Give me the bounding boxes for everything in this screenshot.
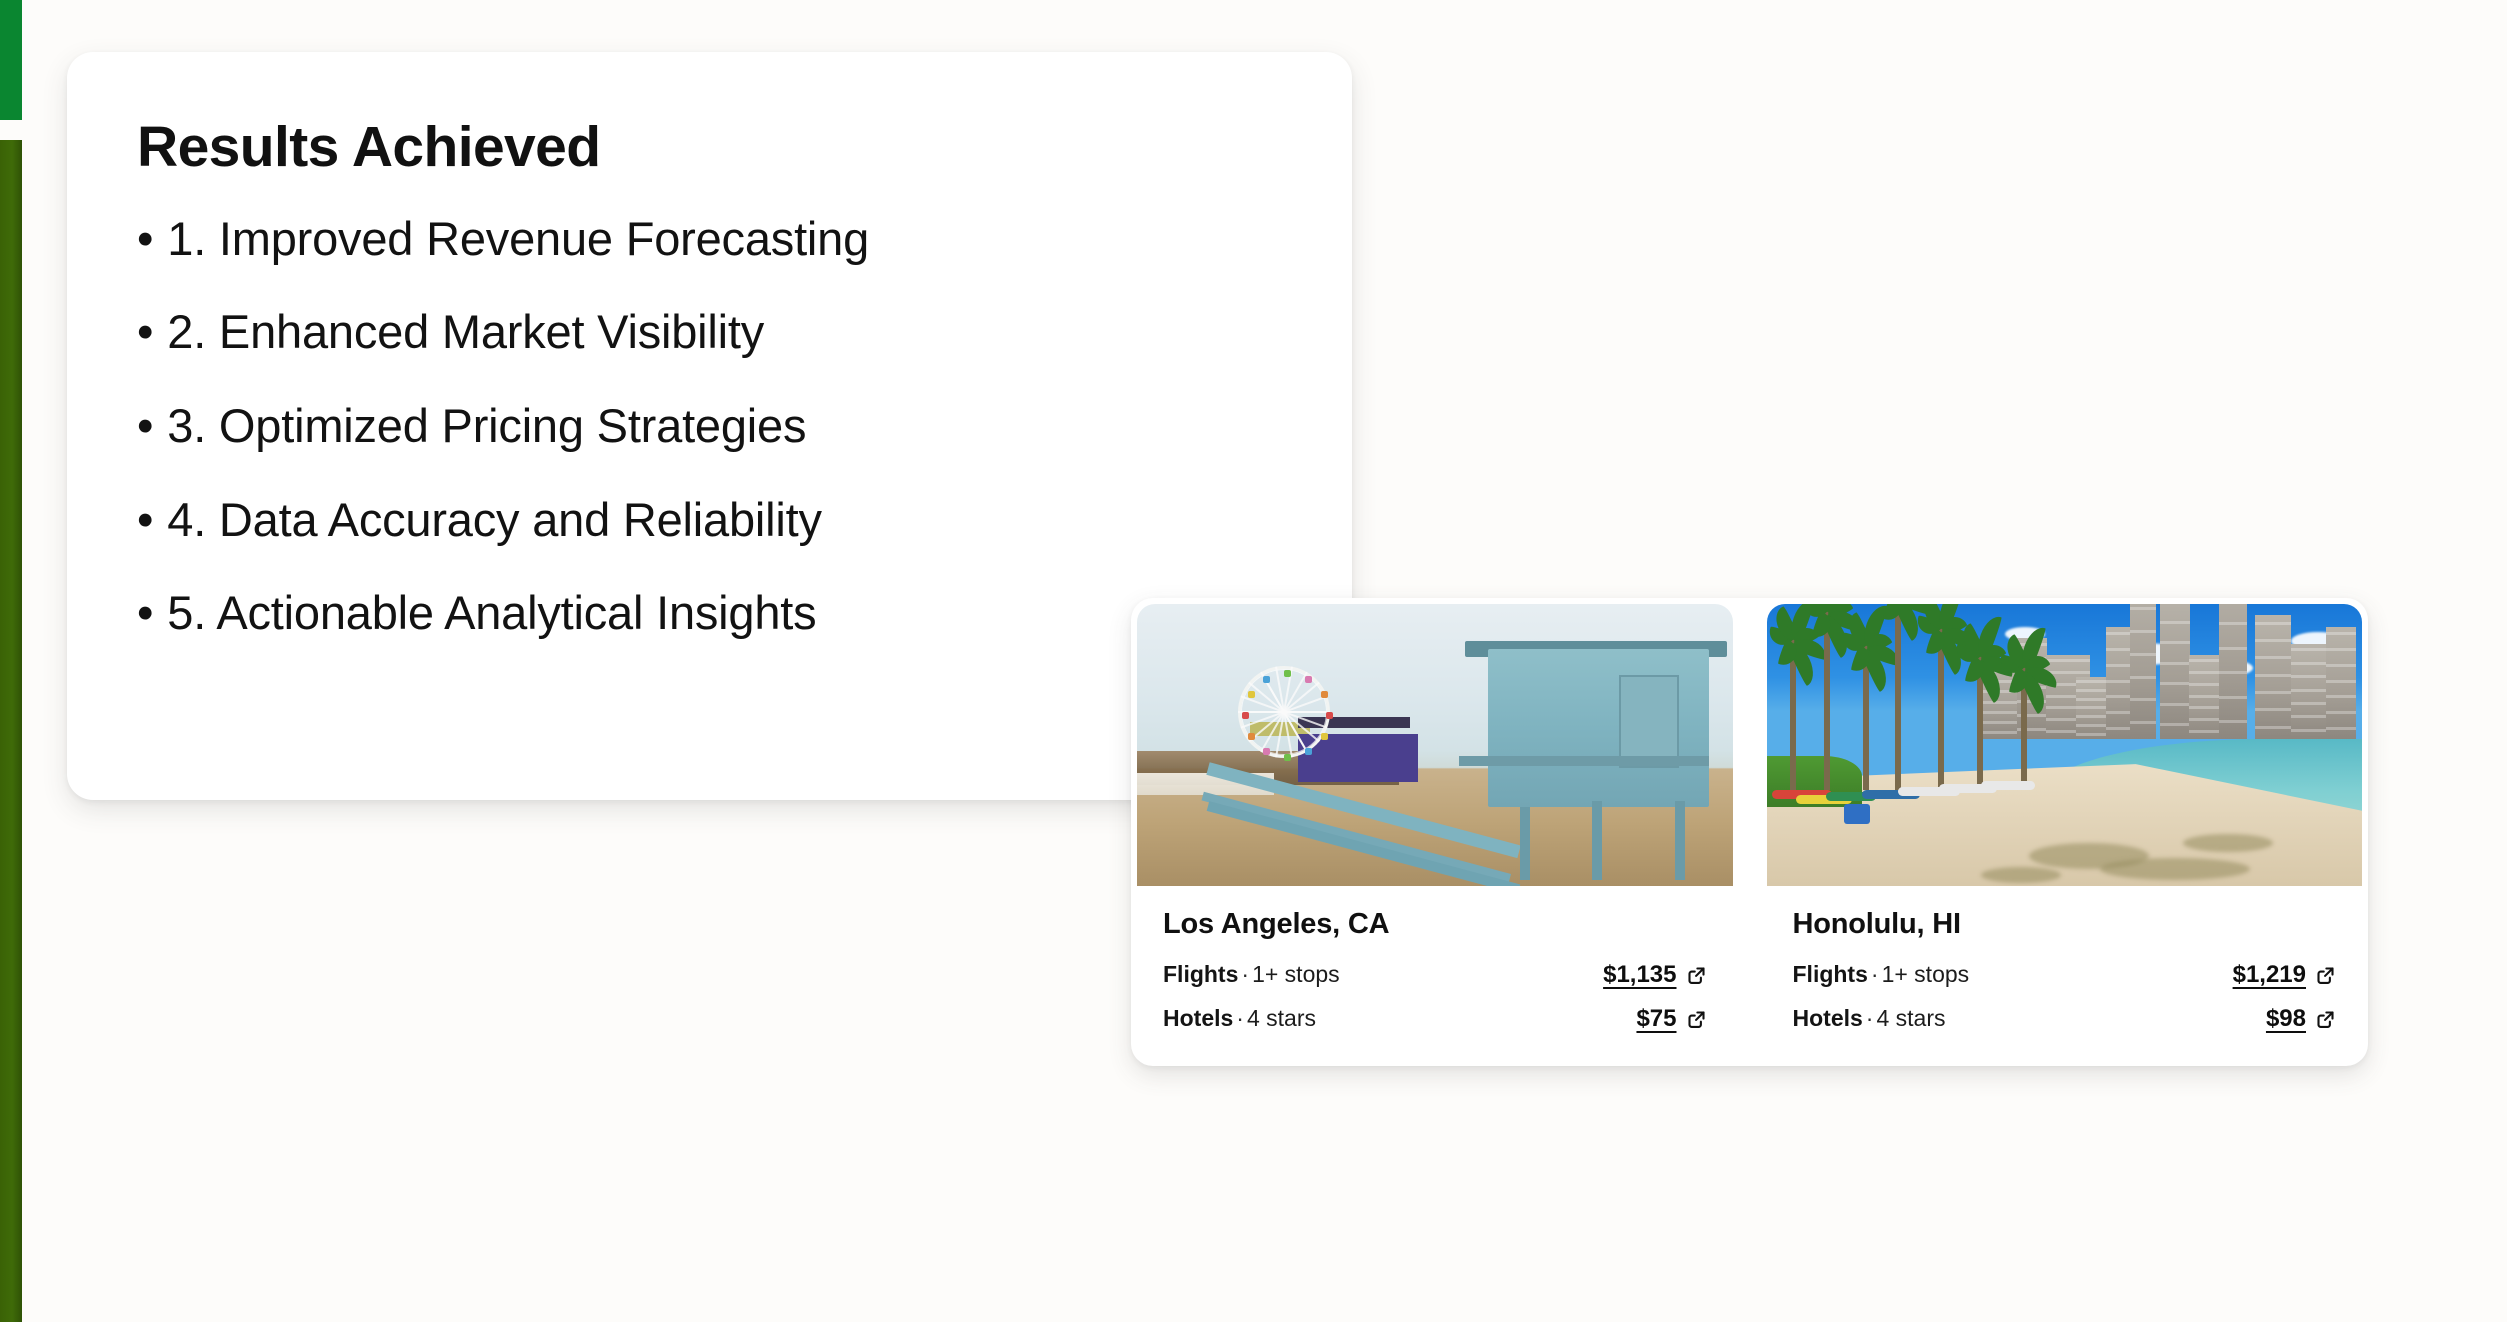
hotels-detail-label: 4 stars: [1876, 1005, 1945, 1031]
destination-card-honolulu[interactable]: Honolulu, HI Flights·1+ stops $1,219 Hot…: [1767, 604, 2363, 1060]
hotels-category-label: Hotels: [1793, 1005, 1863, 1031]
travel-destinations-panel: Los Angeles, CA Flights·1+ stops $1,135 …: [1131, 598, 2368, 1066]
list-item-label: 2. Enhanced Market Visibility: [167, 305, 764, 358]
separator-dot: ·: [1233, 1005, 1247, 1031]
separator-dot: ·: [1238, 961, 1252, 987]
flights-row[interactable]: Flights·1+ stops $1,135: [1163, 961, 1707, 989]
flights-detail-label: 1+ stops: [1252, 961, 1340, 987]
left-accent-bar-top: [0, 0, 22, 120]
bullet-glyph: •: [137, 400, 153, 453]
flights-price[interactable]: $1,135: [1603, 961, 1676, 989]
page-title: Results Achieved: [137, 116, 1282, 179]
list-item: •2. Enhanced Market Visibility: [137, 306, 1282, 359]
list-item-label: 5. Actionable Analytical Insights: [167, 586, 816, 639]
separator-dot: ·: [1868, 961, 1882, 987]
destination-photo-honolulu: [1767, 604, 2363, 886]
destination-card-los-angeles[interactable]: Los Angeles, CA Flights·1+ stops $1,135 …: [1137, 604, 1733, 1060]
external-link-icon[interactable]: [1686, 965, 1707, 986]
hotels-label-group: Hotels·4 stars: [1793, 1005, 1946, 1032]
flights-detail-label: 1+ stops: [1882, 961, 1970, 987]
separator-dot: ·: [1863, 1005, 1877, 1031]
flights-price-group[interactable]: $1,219: [2233, 961, 2336, 989]
left-accent-bar-bottom: [0, 140, 22, 1322]
hotels-category-label: Hotels: [1163, 1005, 1233, 1031]
list-item: •1. Improved Revenue Forecasting: [137, 213, 1282, 266]
list-item: •3. Optimized Pricing Strategies: [137, 400, 1282, 453]
flights-price-group[interactable]: $1,135: [1603, 961, 1706, 989]
flights-label-group: Flights·1+ stops: [1163, 961, 1340, 988]
destination-info-honolulu: Honolulu, HI Flights·1+ stops $1,219 Hot…: [1767, 886, 2363, 1049]
list-item-label: 4. Data Accuracy and Reliability: [167, 493, 822, 546]
list-item: •5. Actionable Analytical Insights: [137, 587, 1282, 640]
destination-info-los-angeles: Los Angeles, CA Flights·1+ stops $1,135 …: [1137, 886, 1733, 1049]
list-item-label: 3. Optimized Pricing Strategies: [167, 399, 806, 452]
destination-photo-los-angeles: [1137, 604, 1733, 886]
flights-row[interactable]: Flights·1+ stops $1,219: [1793, 961, 2337, 989]
external-link-icon[interactable]: [2315, 1009, 2336, 1030]
flights-category-label: Flights: [1163, 961, 1238, 987]
bullet-glyph: •: [137, 494, 153, 547]
flights-label-group: Flights·1+ stops: [1793, 961, 1970, 988]
hotels-price-group[interactable]: $98: [2266, 1005, 2336, 1033]
external-link-icon[interactable]: [1686, 1009, 1707, 1030]
list-item-label: 1. Improved Revenue Forecasting: [167, 212, 869, 265]
bullet-glyph: •: [137, 587, 153, 640]
destination-city-name: Los Angeles, CA: [1163, 908, 1707, 941]
external-link-icon[interactable]: [2315, 965, 2336, 986]
flights-price[interactable]: $1,219: [2233, 961, 2306, 989]
hotels-row[interactable]: Hotels·4 stars $75: [1163, 1005, 1707, 1033]
flights-category-label: Flights: [1793, 961, 1868, 987]
hotels-label-group: Hotels·4 stars: [1163, 1005, 1316, 1032]
bullet-glyph: •: [137, 213, 153, 266]
hotels-price[interactable]: $75: [1636, 1005, 1676, 1033]
list-item: •4. Data Accuracy and Reliability: [137, 494, 1282, 547]
hotels-price[interactable]: $98: [2266, 1005, 2306, 1033]
hotels-price-group[interactable]: $75: [1636, 1005, 1706, 1033]
bullet-glyph: •: [137, 306, 153, 359]
results-list: •1. Improved Revenue Forecasting •2. Enh…: [137, 213, 1282, 640]
destination-city-name: Honolulu, HI: [1793, 908, 2337, 941]
hotels-detail-label: 4 stars: [1247, 1005, 1316, 1031]
hotels-row[interactable]: Hotels·4 stars $98: [1793, 1005, 2337, 1033]
